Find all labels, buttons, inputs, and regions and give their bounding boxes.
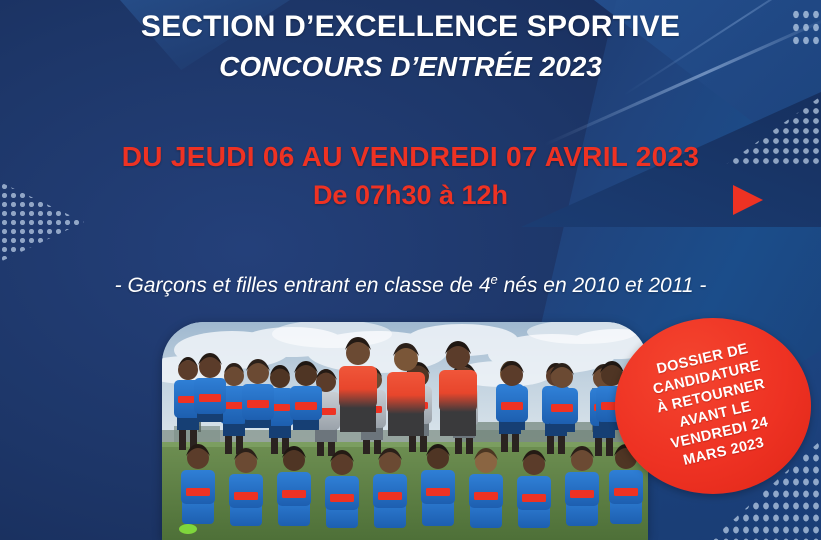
play-triangle-icon <box>733 185 763 215</box>
date-range-text: DU JEUDI 06 AU VENDREDI 07 AVRIL 2023 <box>0 140 821 174</box>
poster-canvas: SECTION D’EXCELLENCE SPORTIVE CONCOURS D… <box>0 0 821 540</box>
eligibility-text: - Garçons et filles entrant en classe de… <box>0 272 821 298</box>
eligibility-suffix: nés en 2010 et 2011 - <box>498 274 707 297</box>
headline-block: SECTION D’EXCELLENCE SPORTIVE CONCOURS D… <box>0 8 821 86</box>
page-title: SECTION D’EXCELLENCE SPORTIVE <box>0 8 821 46</box>
eligibility-superscript: e <box>491 272 498 287</box>
status-badge: DOSSIER DE CANDIDATURE À RETOURNER AVANT… <box>615 318 811 494</box>
team-photo-illustration <box>162 322 648 540</box>
badge-text: DOSSIER DE CANDIDATURE À RETOURNER AVANT… <box>640 337 785 476</box>
team-photo <box>162 322 648 540</box>
dates-block: DU JEUDI 06 AU VENDREDI 07 AVRIL 2023 De… <box>0 140 821 212</box>
eligibility-prefix: - Garçons et filles entrant en classe de… <box>115 274 491 297</box>
page-subtitle: CONCOURS D’ENTRÉE 2023 <box>0 48 821 86</box>
date-hours-text: De 07h30 à 12h <box>0 178 821 212</box>
